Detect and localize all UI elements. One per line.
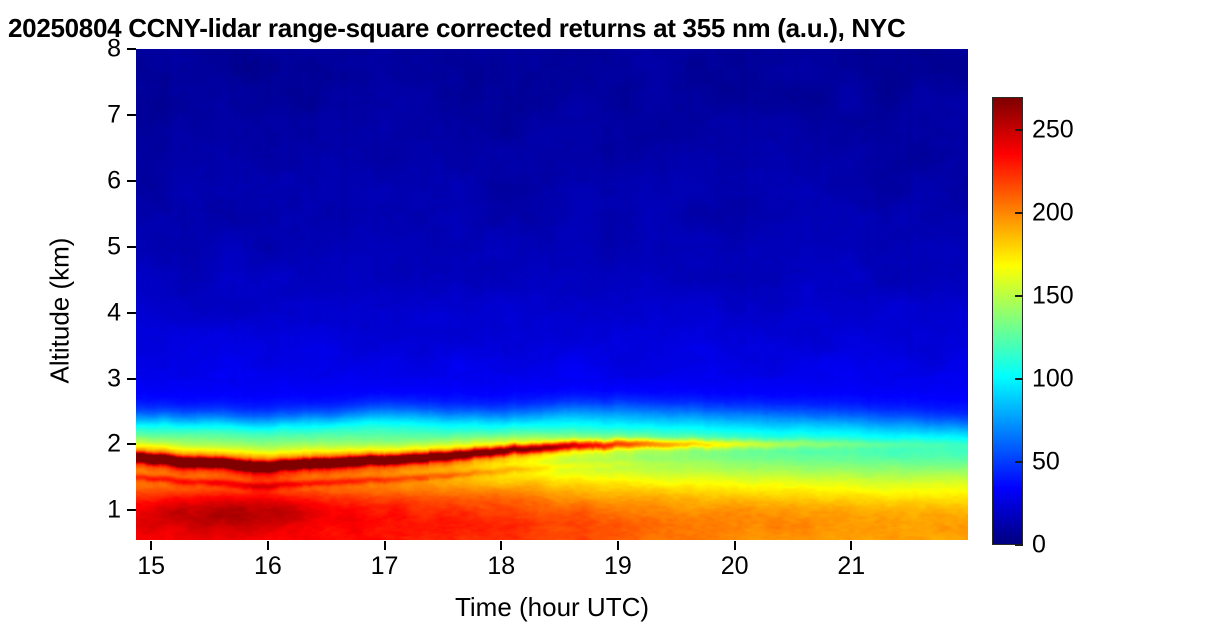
y-axis-label: Altitude (km) — [45, 191, 76, 431]
x-tick-label-21: 21 — [837, 552, 865, 581]
y-tick-6 — [127, 180, 136, 182]
colorbar-gradient — [992, 97, 1023, 545]
x-tick-label-15: 15 — [137, 552, 165, 581]
x-tick-label-16: 16 — [254, 552, 282, 581]
y-tick-label-5: 5 — [107, 232, 121, 261]
colorbar-tick-50 — [1015, 461, 1023, 463]
y-tick-label-2: 2 — [107, 430, 121, 459]
colorbar-tick-250 — [1015, 129, 1023, 131]
y-tick-4 — [127, 312, 136, 314]
y-tick-label-6: 6 — [107, 166, 121, 195]
colorbar-label-200: 200 — [1032, 199, 1074, 228]
x-tick-19 — [617, 541, 619, 550]
x-tick-20 — [734, 541, 736, 550]
y-tick-7 — [127, 114, 136, 116]
x-tick-18 — [500, 541, 502, 550]
x-tick-21 — [850, 541, 852, 550]
y-tick-label-4: 4 — [107, 298, 121, 327]
x-axis-label: Time (hour UTC) — [136, 592, 968, 623]
y-tick-8 — [127, 48, 136, 50]
colorbar-tick-200 — [1015, 212, 1023, 214]
y-tick-label-8: 8 — [107, 35, 121, 64]
page-title: 20250804 CCNY-lidar range-square correct… — [8, 13, 905, 44]
colorbar-label-0: 0 — [1032, 531, 1046, 560]
lidar-figure: 20250804 CCNY-lidar range-square correct… — [0, 0, 1210, 630]
colorbar-tick-150 — [1015, 295, 1023, 297]
x-tick-17 — [384, 541, 386, 550]
lidar-heatmap — [136, 49, 968, 540]
colorbar-label-150: 150 — [1032, 282, 1074, 311]
y-tick-label-7: 7 — [107, 100, 121, 129]
colorbar-tick-100 — [1015, 378, 1023, 380]
y-tick-label-1: 1 — [107, 496, 121, 525]
heatmap-axes — [136, 49, 968, 540]
y-tick-2 — [127, 443, 136, 445]
x-tick-label-17: 17 — [371, 552, 399, 581]
x-tick-label-19: 19 — [604, 552, 632, 581]
y-tick-3 — [127, 378, 136, 380]
x-tick-16 — [267, 541, 269, 550]
colorbar-label-250: 250 — [1032, 116, 1074, 145]
y-tick-1 — [127, 509, 136, 511]
colorbar-label-100: 100 — [1032, 365, 1074, 394]
y-tick-label-3: 3 — [107, 364, 121, 393]
x-tick-label-18: 18 — [487, 552, 515, 581]
x-tick-15 — [150, 541, 152, 550]
y-tick-5 — [127, 246, 136, 248]
colorbar — [992, 97, 1023, 545]
colorbar-label-50: 50 — [1032, 448, 1060, 477]
colorbar-tick-0 — [1015, 544, 1023, 546]
x-tick-label-20: 20 — [721, 552, 749, 581]
